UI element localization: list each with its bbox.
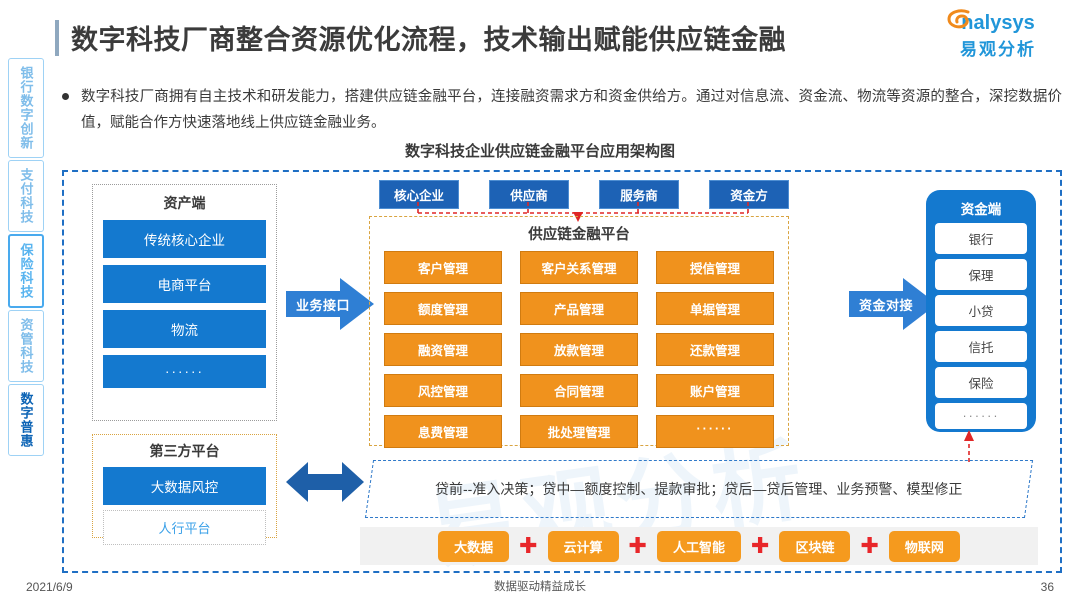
third-party-title: 第三方平台: [103, 441, 266, 461]
loan-lifecycle-text: 贷前--准入决策；贷中—额度控制、提款审批；贷后—贷后管理、业务预警、模型修正: [411, 477, 986, 501]
tech-chip-ai[interactable]: 人工智能: [657, 531, 741, 562]
logo-wordmark: nalysys: [938, 12, 1058, 34]
tech-chip-iot[interactable]: 物联网: [889, 531, 960, 562]
architecture-diagram: 易观分析 资产端 传统核心企业 电商平台 物流 ······ 第三方平台 大数据…: [62, 170, 1062, 573]
module-batch-mgmt[interactable]: 批处理管理: [520, 415, 638, 448]
funding-item-factoring[interactable]: 保理: [935, 259, 1027, 290]
module-crm[interactable]: 客户关系管理: [520, 251, 638, 284]
business-interface-label: 业务接口: [296, 295, 350, 314]
business-interface-arrow: 业务接口: [286, 278, 374, 330]
third-party-item-pboc-platform[interactable]: 人行平台: [103, 510, 266, 545]
footer-slogan: 数据驱动精益成长: [0, 578, 1080, 594]
bidirectional-arrow: [286, 460, 364, 504]
plus-icon-3: ✚: [751, 539, 769, 553]
funding-feedback-arrow: [954, 430, 984, 462]
title-accent-bar: [55, 20, 59, 56]
module-financing-mgmt[interactable]: 融资管理: [384, 333, 502, 366]
tech-chip-blockchain[interactable]: 区块链: [779, 531, 850, 562]
module-contract-mgmt[interactable]: 合同管理: [520, 374, 638, 407]
module-account-mgmt[interactable]: 账户管理: [656, 374, 774, 407]
footer-page-number: 36: [1041, 580, 1054, 594]
asset-item-more[interactable]: ······: [103, 355, 266, 388]
platform-title: 供应链金融平台: [370, 223, 788, 244]
sidebar[interactable]: 银行数字创新 支付科技 保险科技 资管科技 数字普惠: [8, 58, 44, 456]
bullet-paragraph: 数字科技厂商拥有自主技术和研发能力，搭建供应链金融平台，连接融资需求方和资金供给…: [62, 84, 1062, 136]
tech-stack-bar: 大数据 ✚ 云计算 ✚ 人工智能 ✚ 区块链 ✚ 物联网: [360, 527, 1038, 565]
funding-item-trust[interactable]: 信托: [935, 331, 1027, 362]
fund-docking-label: 资金对接: [859, 295, 913, 314]
module-loan-issue-mgmt[interactable]: 放款管理: [520, 333, 638, 366]
supply-chain-platform-panel: 供应链金融平台 客户管理 客户关系管理 授信管理 额度管理 产品管理 单据管理 …: [369, 216, 789, 446]
loan-lifecycle-panel: 贷前--准入决策；贷中—额度控制、提款审批；贷后—贷后管理、业务预警、模型修正: [365, 460, 1033, 518]
diagram-title: 数字科技企业供应链金融平台应用架构图: [0, 140, 1080, 161]
tech-chip-cloud[interactable]: 云计算: [548, 531, 619, 562]
asset-side-title: 资产端: [103, 193, 266, 213]
platform-module-grid: 客户管理 客户关系管理 授信管理 额度管理 产品管理 单据管理 融资管理 放款管…: [370, 251, 788, 448]
analysys-logo: nalysys 易观分析: [938, 12, 1058, 60]
asset-item-core-enterprise[interactable]: 传统核心企业: [103, 220, 266, 258]
funding-item-bank[interactable]: 银行: [935, 223, 1027, 254]
page-title: 数字科技厂商整合资源优化流程，技术输出赋能供应链金融: [71, 18, 786, 57]
funding-item-microloan[interactable]: 小贷: [935, 295, 1027, 326]
funding-side-title: 资金端: [935, 198, 1027, 218]
page-header: 数字科技厂商整合资源优化流程，技术输出赋能供应链金融: [55, 18, 786, 57]
bullet-text: 数字科技厂商拥有自主技术和研发能力，搭建供应链金融平台，连接融资需求方和资金供给…: [81, 84, 1062, 136]
third-party-panel: 第三方平台 大数据风控 人行平台: [92, 434, 277, 538]
fund-docking-arrow: 资金对接: [849, 278, 937, 330]
third-party-item-bigdata-risk[interactable]: 大数据风控: [103, 467, 266, 505]
plus-icon-4: ✚: [860, 539, 878, 553]
sidebar-item-insurance[interactable]: 保险科技: [8, 234, 44, 308]
swirl-icon: [946, 9, 972, 31]
module-repayment-mgmt[interactable]: 还款管理: [656, 333, 774, 366]
module-customer-mgmt[interactable]: 客户管理: [384, 251, 502, 284]
bullet-dot-icon: [62, 93, 69, 100]
module-risk-mgmt[interactable]: 风控管理: [384, 374, 502, 407]
sidebar-item-payment[interactable]: 支付科技: [8, 160, 44, 232]
sidebar-item-digital-inclusive[interactable]: 数字普惠: [8, 384, 44, 456]
module-credit-mgmt[interactable]: 授信管理: [656, 251, 774, 284]
logo-word-text: nalysys: [961, 12, 1034, 34]
funding-side-panel: 资金端 银行 保理 小贷 信托 保险 ······: [926, 190, 1036, 432]
asset-side-panel: 资产端 传统核心企业 电商平台 物流 ······: [92, 184, 277, 421]
asset-item-ecommerce[interactable]: 电商平台: [103, 265, 266, 303]
module-quota-mgmt[interactable]: 额度管理: [384, 292, 502, 325]
tech-chip-bigdata[interactable]: 大数据: [438, 531, 509, 562]
funding-item-insurance[interactable]: 保险: [935, 367, 1027, 398]
arrow-left-right-icon: [286, 460, 364, 504]
module-product-mgmt[interactable]: 产品管理: [520, 292, 638, 325]
logo-chinese-text: 易观分析: [938, 35, 1058, 60]
funding-item-more[interactable]: ······: [935, 403, 1027, 429]
plus-icon-1: ✚: [519, 539, 537, 553]
sidebar-item-asset-mgmt[interactable]: 资管科技: [8, 310, 44, 382]
module-more[interactable]: ······: [656, 415, 774, 448]
asset-item-logistics[interactable]: 物流: [103, 310, 266, 348]
plus-icon-2: ✚: [629, 539, 647, 553]
module-document-mgmt[interactable]: 单据管理: [656, 292, 774, 325]
module-fee-mgmt[interactable]: 息费管理: [384, 415, 502, 448]
